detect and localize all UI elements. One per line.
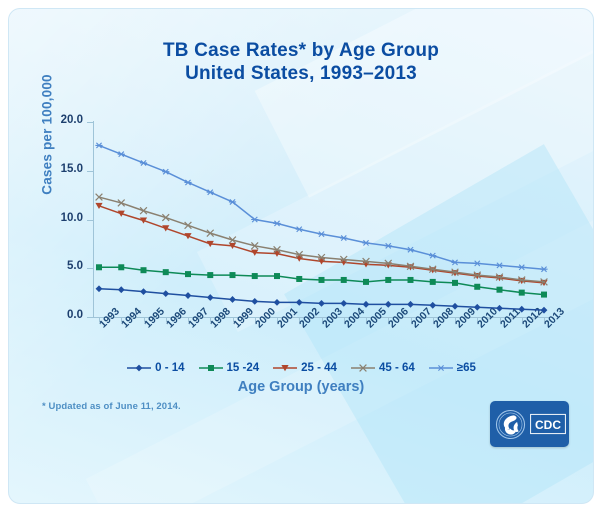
legend-label: ≥65 bbox=[457, 362, 476, 374]
series--65 bbox=[95, 143, 547, 272]
cdc-wordmark: CDC bbox=[530, 413, 566, 435]
legend-item-25-44[interactable]: 25 - 44 bbox=[272, 362, 337, 374]
legend-item-15-24[interactable]: 15 -24 bbox=[198, 362, 260, 374]
chart-card: TB Case Rates* by Age Group United State… bbox=[8, 8, 594, 504]
legend-label: 15 -24 bbox=[227, 362, 260, 374]
legend-label: 25 - 44 bbox=[301, 362, 337, 374]
chart-title: TB Case Rates* by Age Group United State… bbox=[9, 39, 593, 85]
footnote: * Updated as of June 11, 2014. bbox=[42, 401, 181, 412]
legend-swatch bbox=[126, 362, 152, 374]
cdc-logo: CDC bbox=[490, 401, 569, 447]
y-axis-title: Cases per 100,000 bbox=[40, 35, 55, 235]
chart-screenshot: TB Case Rates* by Age Group United State… bbox=[0, 0, 600, 510]
chart-title-line1: TB Case Rates* by Age Group bbox=[163, 40, 439, 61]
y-axis-tick-label: 20.0 bbox=[37, 114, 83, 126]
legend-swatch bbox=[350, 362, 376, 374]
series-line bbox=[99, 145, 544, 269]
y-axis-tick-label: 0.0 bbox=[37, 309, 83, 321]
legend-item--65[interactable]: ≥65 bbox=[428, 362, 476, 374]
legend-swatch bbox=[428, 362, 454, 374]
hhs-seal-icon bbox=[494, 408, 527, 441]
legend-item-45-64[interactable]: 45 - 64 bbox=[350, 362, 415, 374]
chart-title-line2: United States, 1993–2013 bbox=[9, 62, 593, 85]
x-axis-title: Age Group (years) bbox=[9, 379, 593, 395]
legend-label: 45 - 64 bbox=[379, 362, 415, 374]
legend-swatch bbox=[272, 362, 298, 374]
legend-label: 0 - 14 bbox=[155, 362, 184, 374]
chart-legend: 0 - 1415 -2425 - 4445 - 64≥65 bbox=[9, 362, 593, 374]
y-axis-tick-label: 15.0 bbox=[37, 163, 83, 175]
y-axis-tick-label: 5.0 bbox=[37, 260, 83, 272]
plot-area bbox=[94, 122, 549, 317]
svg-text:CDC: CDC bbox=[535, 418, 561, 432]
legend-swatch bbox=[198, 362, 224, 374]
y-axis-tick-label: 10.0 bbox=[37, 212, 83, 224]
legend-item-0-14[interactable]: 0 - 14 bbox=[126, 362, 184, 374]
